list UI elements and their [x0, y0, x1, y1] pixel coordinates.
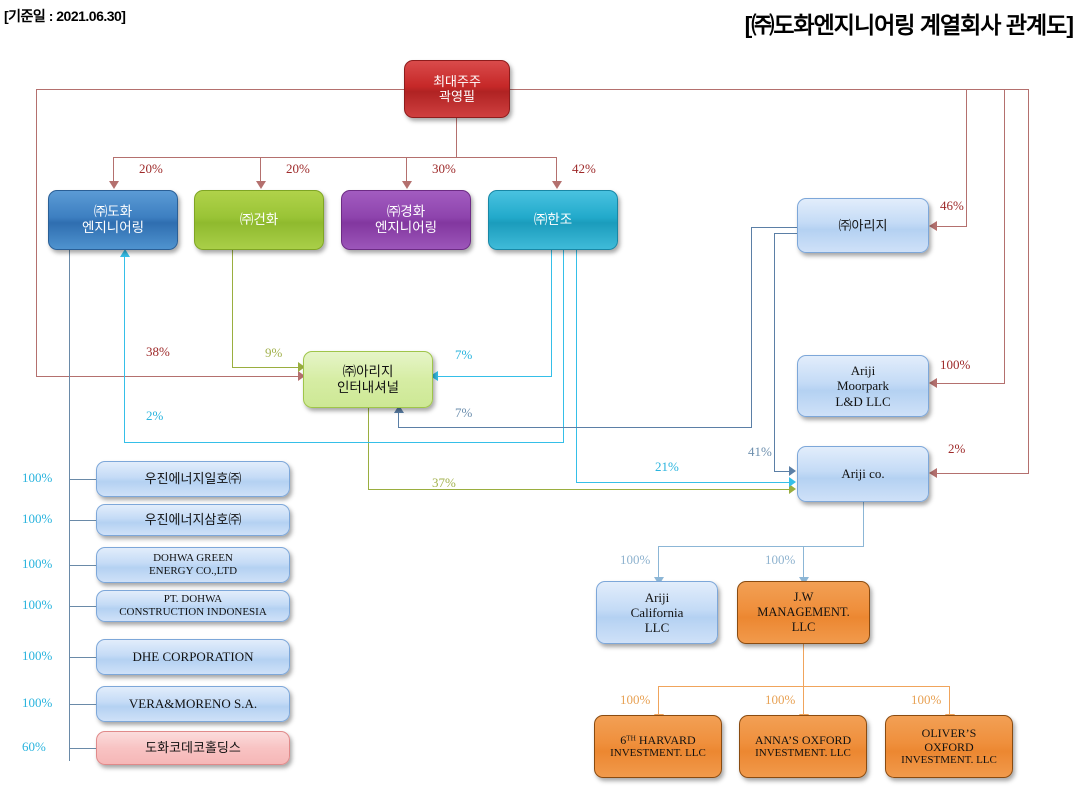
node-arijica-line3: LLC: [628, 620, 687, 635]
label-9pct: 9%: [265, 345, 282, 361]
subsidiary-pct-4: 100%: [22, 648, 52, 664]
arrow-arijikr-arijico: [789, 466, 796, 476]
arrow-owner-moorpark: [929, 378, 937, 388]
edge-arijico-stem: [863, 502, 864, 546]
node-geonhwa-line1: ㈜건화: [237, 212, 281, 228]
subsidiary-name-4: DHE CORPORATION: [130, 649, 257, 664]
subsidiary-box-5[interactable]: VERA&MORENO S.A.: [96, 686, 290, 722]
node-hanjo-line1: ㈜한조: [531, 212, 575, 228]
node-arijikr-line1: ㈜아리지: [836, 218, 891, 233]
node-ariji-california[interactable]: Ariji California LLC: [596, 581, 718, 644]
label-100pct-oliver: 100%: [911, 692, 941, 708]
edge-hanjo-v7: [551, 250, 552, 376]
label-100pct-jw: 100%: [765, 552, 795, 568]
edge-owner-busbar: [113, 157, 556, 158]
edge-arijikr-v7: [751, 227, 752, 428]
node-oliver-line1: OLIVER’S: [898, 726, 1000, 740]
edge-jw-busbar: [658, 686, 950, 687]
label-100pct-ca: 100%: [620, 552, 650, 568]
label-20pct-dohwa: 20%: [139, 161, 163, 177]
node-harvard-line2: INVESTMENT. LLC: [607, 747, 709, 760]
subsidiary-name-3: PT. DOHWA: [116, 593, 270, 606]
arrow-hanjo-arijico: [789, 477, 796, 487]
edge-owner-hanjo: [556, 157, 557, 182]
edge-geonhwa-arijiintl-9: [232, 367, 302, 368]
edge-dohwa-list-trunk: [69, 250, 70, 761]
label-2pct-dohwa: 2%: [146, 408, 163, 424]
edge-hanjo-dohwa-up: [124, 256, 125, 443]
node-jw-management[interactable]: J.W MANAGEMENT. LLC: [737, 581, 870, 644]
subsidiary-name2-3: CONSTRUCTION INDONESIA: [116, 606, 270, 619]
subsidiary-box-6[interactable]: 도화코데코홀딩스: [96, 731, 290, 765]
subsidiary-box-4[interactable]: DHE CORPORATION: [96, 639, 290, 675]
subsidiary-pct-3: 100%: [22, 597, 52, 613]
node-hanjo[interactable]: ㈜한조: [488, 190, 618, 250]
node-ariji-international[interactable]: ㈜아리지 인터내셔널: [303, 351, 433, 408]
label-100pct-harvard: 100%: [620, 692, 650, 708]
arrow-owner-arijikr: [929, 221, 937, 231]
node-arijico-line1: Ariji co.: [838, 466, 887, 481]
edge-arijikr-v41: [774, 233, 775, 471]
edge-jw-harvard: [658, 686, 659, 715]
node-harvard-line1: 6ᵀᴴ HARVARD: [607, 733, 709, 747]
subsidiary-name-5: VERA&MORENO S.A.: [126, 696, 260, 711]
subsidiary-name-0: 우진에너지일호㈜: [142, 471, 245, 486]
node-owner-line2: 곽영필: [430, 89, 484, 104]
edge-owner-left-top: [36, 89, 406, 90]
subsidiary-name-6: 도화코데코홀딩스: [142, 740, 244, 755]
edge-hanjo-dohwa-2: [124, 442, 564, 443]
edge-hanjo-v21: [576, 250, 577, 482]
label-20pct-geonhwa: 20%: [286, 161, 310, 177]
label-7pct-arijiintl: 7%: [455, 347, 472, 363]
reference-date-label: [기준일 : 2021.06.30]: [4, 6, 125, 26]
label-7pct-lower: 7%: [455, 405, 472, 421]
node-arijica-line1: Ariji: [628, 590, 687, 605]
node-kyunghwa-line1: ㈜경화: [372, 204, 440, 220]
arrow-owner-arijico: [929, 468, 937, 478]
edge-hanjo-arijiintl-7: [437, 376, 552, 377]
subsidiary-connector-0: [69, 479, 97, 480]
edge-owner-right-v100: [1004, 89, 1005, 383]
subsidiary-connector-4: [69, 657, 97, 658]
label-21pct: 21%: [655, 459, 679, 475]
node-kyunghwa-line2: 엔지니어링: [372, 220, 440, 236]
label-42pct-hanjo: 42%: [572, 161, 596, 177]
node-jw-line2: MANAGEMENT.: [754, 605, 852, 620]
edge-arijikr-arijiintl-up: [398, 412, 399, 428]
subsidiary-connector-5: [69, 704, 97, 705]
subsidiary-pct-0: 100%: [22, 470, 52, 486]
node-oliver-oxford-investment[interactable]: OLIVER’S OXFORD INVESTMENT. LLC: [885, 715, 1013, 778]
subsidiary-name-2: DOHWA GREEN: [146, 552, 240, 565]
node-arijiintl-line1: ㈜아리지: [334, 364, 402, 380]
org-chart-canvas: [기준일 : 2021.06.30] [㈜도화엔지니어링 계열회사 관계도] 3…: [0, 0, 1079, 809]
edge-owner-right-top: [510, 89, 1029, 90]
subsidiary-connector-1: [69, 520, 97, 521]
edge-owner-dohwa: [113, 157, 114, 182]
edge-owner-kyunghwa: [406, 157, 407, 182]
edge-owner-right-v46: [966, 89, 967, 226]
edge-owner-arijiintl-38: [36, 376, 301, 377]
arrow-owner-hanjo: [552, 181, 562, 189]
subsidiary-connector-6: [69, 748, 97, 749]
node-dohwa-line1: ㈜도화: [79, 204, 147, 220]
label-2pct-arijico: 2%: [948, 441, 965, 457]
edge-arijico-busbar: [658, 546, 864, 547]
edge-jw-stem: [803, 644, 804, 686]
node-moorpark-line2: Moorpark: [832, 378, 893, 393]
subsidiary-box-0[interactable]: 우진에너지일호㈜: [96, 461, 290, 497]
subsidiary-name2-2: ENERGY CO.,LTD: [146, 565, 240, 578]
label-46pct: 46%: [940, 198, 964, 214]
node-anna-oxford-investment[interactable]: ANNA’S OXFORD INVESTMENT. LLC: [739, 715, 867, 778]
node-kyunghwa-engineering[interactable]: ㈜경화 엔지니어링: [341, 190, 471, 250]
label-41pct: 41%: [748, 444, 772, 460]
subsidiary-box-3[interactable]: PT. DOHWACONSTRUCTION INDONESIA: [96, 590, 290, 622]
subsidiary-box-1[interactable]: 우진에너지삼호㈜: [96, 504, 290, 536]
node-owner[interactable]: 최대주주 곽영필: [404, 60, 510, 118]
arrow-hanjo-dohwa: [120, 249, 130, 257]
edge-owner-right-v2: [1028, 89, 1029, 473]
node-anna-line2: INVESTMENT. LLC: [752, 747, 854, 760]
node-ariji-co[interactable]: Ariji co.: [797, 446, 929, 502]
edge-jw-oliver: [949, 686, 950, 715]
node-ariji-korea[interactable]: ㈜아리지: [797, 198, 929, 253]
node-oliver-line3: INVESTMENT. LLC: [898, 754, 1000, 767]
node-moorpark-line1: Ariji: [832, 363, 893, 378]
node-moorpark-line3: L&D LLC: [832, 394, 893, 409]
edge-geonhwa-stem: [232, 250, 233, 367]
edge-arijikr-arijiintl-7: [398, 427, 752, 428]
node-arijica-line2: California: [628, 605, 687, 620]
edge-arijiintl-stem: [368, 408, 369, 489]
arrow-owner-kyunghwa: [402, 181, 412, 189]
label-100pct-moorpark: 100%: [940, 357, 970, 373]
edge-arijico-ca: [658, 546, 659, 578]
subsidiary-pct-2: 100%: [22, 556, 52, 572]
edge-hanjo-arijico-21: [576, 482, 792, 483]
edge-arijikr-out7: [751, 227, 797, 228]
label-30pct-kyunghwa: 30%: [432, 161, 456, 177]
edge-hanjo-v2: [563, 250, 564, 442]
node-geonhwa[interactable]: ㈜건화: [194, 190, 324, 250]
node-harvard-investment[interactable]: 6ᵀᴴ HARVARD INVESTMENT. LLC: [594, 715, 722, 778]
label-38pct: 38%: [146, 344, 170, 360]
node-anna-line1: ANNA’S OXFORD: [752, 733, 854, 747]
node-arijiintl-line2: 인터내셔널: [334, 380, 402, 396]
edge-jw-anna: [803, 686, 804, 715]
edge-owner-left-vert: [36, 89, 37, 376]
arrow-owner-dohwa: [109, 181, 119, 189]
node-owner-line1: 최대주주: [430, 74, 484, 89]
page-title: [㈜도화엔지니어링 계열회사 관계도]: [745, 6, 1073, 40]
edge-arijico-jw: [803, 546, 804, 578]
subsidiary-pct-5: 100%: [22, 695, 52, 711]
node-jw-line1: J.W: [754, 590, 852, 605]
edge-owner-stem: [456, 117, 457, 157]
subsidiary-pct-6: 60%: [22, 739, 46, 755]
subsidiary-box-2[interactable]: DOHWA GREENENERGY CO.,LTD: [96, 547, 290, 583]
edge-owner-geonhwa: [260, 157, 261, 182]
edge-arijikr-out41: [774, 233, 797, 234]
subsidiary-name-1: 우진에너지삼호㈜: [142, 512, 245, 527]
subsidiary-connector-3: [69, 606, 97, 607]
node-dohwa-engineering[interactable]: ㈜도화 엔지니어링: [48, 190, 178, 250]
edge-owner-arijico-2: [936, 473, 1029, 474]
label-100pct-anna: 100%: [765, 692, 795, 708]
arrow-owner-geonhwa: [256, 181, 266, 189]
subsidiary-connector-2: [69, 565, 97, 566]
node-oliver-line2: OXFORD: [898, 740, 1000, 754]
node-dohwa-line2: 엔지니어링: [79, 220, 147, 236]
node-jw-line3: LLC: [754, 620, 852, 635]
edge-owner-arijikr-46: [936, 226, 967, 227]
subsidiary-pct-1: 100%: [22, 511, 52, 527]
edge-owner-moorpark-100: [936, 383, 1005, 384]
node-ariji-moorpark[interactable]: Ariji Moorpark L&D LLC: [797, 355, 929, 417]
label-37pct: 37%: [432, 475, 456, 491]
